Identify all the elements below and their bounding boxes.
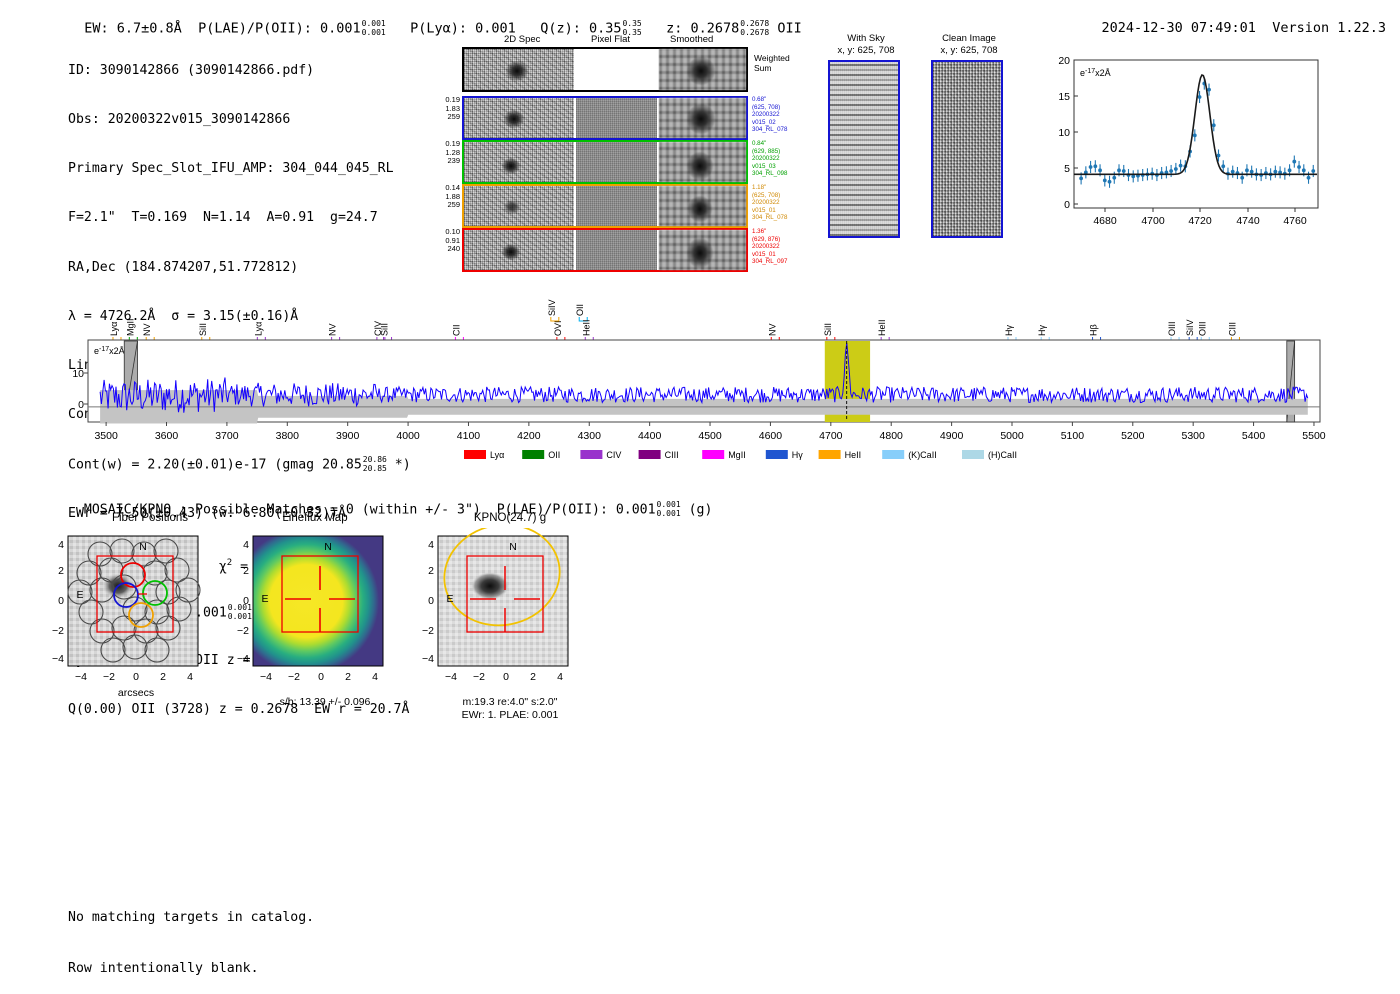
svg-text:Hβ: Hβ bbox=[1089, 324, 1099, 336]
svg-text:20: 20 bbox=[1058, 55, 1070, 67]
cutout-2dspec-fiber-2 bbox=[464, 142, 574, 182]
svg-text:4740: 4740 bbox=[1236, 215, 1260, 227]
spectral-line-markers: LyαMgIINVSiIILyαNVSiIICIVCIIOVISiIVOIIHe… bbox=[109, 299, 1239, 341]
line-zoom-flux-annotation: e-17x2Å bbox=[1080, 68, 1111, 79]
cutout-2dspec-weighted bbox=[464, 49, 574, 90]
svg-text:−4: −4 bbox=[260, 671, 272, 683]
svg-text:10: 10 bbox=[72, 368, 84, 380]
svg-text:10: 10 bbox=[1058, 127, 1070, 139]
version-label: Version 1.22.3 bbox=[1272, 20, 1386, 36]
info-obs: Obs: 20200322v015_3090142866 bbox=[68, 112, 411, 128]
info-id: ID: 3090142866 (3090142866.pdf) bbox=[68, 63, 411, 79]
svg-text:4700: 4700 bbox=[1141, 215, 1165, 227]
full-spectrum-chart: LyαMgIINVSiIILyαNVSiIICIVCIIOVISiIVOIIHe… bbox=[64, 272, 1336, 467]
svg-text:−2: −2 bbox=[422, 625, 434, 637]
fiber-2-meta: 0.84"(629, 885)20200322v015_03304_RL_098 bbox=[752, 140, 800, 178]
svg-text:Hγ: Hγ bbox=[1037, 325, 1047, 336]
svg-text:5500: 5500 bbox=[1302, 430, 1326, 442]
svg-text:CIII: CIII bbox=[1228, 322, 1238, 336]
lineflux-map-chart[interactable]: N E 42 0−2 −4 −4−2 02 4 bbox=[225, 528, 425, 703]
cutout-smoothed-fiber-3 bbox=[659, 186, 746, 226]
full-spec-flux-annotation: e-17x2Å bbox=[94, 346, 125, 357]
svg-text:CIV: CIV bbox=[373, 321, 383, 336]
panel-title-lineflux-map: Lineflux Map bbox=[225, 512, 405, 524]
svg-text:−2: −2 bbox=[103, 671, 115, 683]
cutout-pixelflat-fiber-1 bbox=[576, 98, 657, 138]
svg-text:NV: NV bbox=[328, 323, 338, 336]
svg-text:2: 2 bbox=[58, 565, 64, 577]
svg-text:−4: −4 bbox=[422, 653, 434, 665]
svg-text:4300: 4300 bbox=[578, 430, 602, 442]
kpno-caption-2: EWr: 1. PLAE: 0.001 bbox=[405, 709, 615, 722]
svg-text:0: 0 bbox=[1064, 199, 1070, 211]
svg-text:SiII: SiII bbox=[823, 323, 833, 336]
svg-text:4700: 4700 bbox=[819, 430, 843, 442]
line-zoom-x-axis: 4680 4700 4720 4740 4760 bbox=[1093, 208, 1307, 227]
svg-text:3800: 3800 bbox=[276, 430, 300, 442]
svg-text:4: 4 bbox=[557, 671, 563, 683]
compass-north-kpno: N bbox=[509, 541, 517, 553]
fiber-1-metrics: 0.191.83259 bbox=[436, 96, 460, 122]
svg-text:(K)CaII: (K)CaII bbox=[908, 450, 937, 460]
svg-text:3500: 3500 bbox=[94, 430, 118, 442]
svg-text:4800: 4800 bbox=[880, 430, 904, 442]
svg-text:−2: −2 bbox=[288, 671, 300, 683]
svg-text:−4: −4 bbox=[52, 653, 64, 665]
panel-title-kpno: KPNO(24.7) g bbox=[410, 512, 610, 524]
footer-note: No matching targets in catalog. Row inte… bbox=[68, 875, 314, 994]
full-spec-legend: LyαOIICIVCIIIMgIIHγHeII(K)CaII(H)CaII bbox=[464, 450, 1017, 460]
cutout-2dspec-fiber-1 bbox=[464, 98, 574, 138]
svg-text:4000: 4000 bbox=[396, 430, 420, 442]
svg-text:2: 2 bbox=[243, 565, 249, 577]
weighted-sum-label: Weighted Sum bbox=[754, 53, 790, 73]
cutout-pixelflat-fiber-4 bbox=[576, 230, 657, 270]
svg-text:4760: 4760 bbox=[1283, 215, 1307, 227]
svg-text:2: 2 bbox=[428, 565, 434, 577]
kpno-caption-1: m:19.3 re:4.0" s:2.0" bbox=[405, 696, 615, 709]
svg-text:MgII: MgII bbox=[728, 450, 746, 460]
with-sky-title: With Skyx, y: 625, 708 bbox=[816, 33, 916, 56]
fiber-3-metrics: 0.141.88259 bbox=[436, 184, 460, 210]
svg-text:SiIV: SiIV bbox=[547, 299, 557, 316]
svg-text:HeII: HeII bbox=[877, 319, 887, 336]
spec-montage: 2D Spec Pixel Flat Smoothed Weighted Sum… bbox=[438, 34, 768, 259]
header-timestamp-version: 2024-12-30 07:49:01 Version 1.22.3 bbox=[1085, 4, 1386, 36]
svg-text:4200: 4200 bbox=[517, 430, 541, 442]
svg-text:NV: NV bbox=[142, 323, 152, 336]
montage-col-title-smoothed: Smoothed bbox=[670, 34, 713, 45]
svg-text:Hγ: Hγ bbox=[1004, 325, 1014, 336]
svg-text:3700: 3700 bbox=[215, 430, 239, 442]
svg-text:2: 2 bbox=[345, 671, 351, 683]
svg-text:5200: 5200 bbox=[1121, 430, 1145, 442]
svg-text:0: 0 bbox=[78, 399, 84, 411]
info-primary-spec: Primary Spec_Slot_IFU_AMP: 304_044_045_R… bbox=[68, 161, 411, 177]
svg-text:MgII: MgII bbox=[125, 318, 135, 336]
svg-text:CIV: CIV bbox=[606, 450, 621, 460]
kpno-image-chart[interactable]: N E 42 0−2 −4 −4−2 02 4 bbox=[410, 528, 620, 703]
fiber-4-meta: 1.36"(629, 876)20200322v015_01304_RL_097 bbox=[752, 228, 800, 266]
cutout-pixelflat-fiber-3 bbox=[576, 186, 657, 226]
svg-text:0: 0 bbox=[428, 595, 434, 607]
svg-text:15: 15 bbox=[1058, 91, 1070, 103]
compass-east-fiber: E bbox=[76, 589, 83, 601]
svg-text:4100: 4100 bbox=[457, 430, 481, 442]
svg-text:HeII: HeII bbox=[845, 450, 862, 460]
svg-text:3600: 3600 bbox=[155, 430, 179, 442]
compass-north-lineflux: N bbox=[324, 541, 332, 553]
cutout-smoothed-fiber-4 bbox=[659, 230, 746, 270]
info-seeing: F=2.1" T=0.169 N=1.14 A=0.91 g=24.7 bbox=[68, 210, 411, 226]
svg-text:2: 2 bbox=[530, 671, 536, 683]
svg-text:−4: −4 bbox=[237, 653, 249, 665]
cutout-smoothed-weighted bbox=[659, 49, 746, 90]
svg-text:4: 4 bbox=[372, 671, 378, 683]
full-spec-y-axis: 10 0 bbox=[72, 368, 88, 411]
fiber-x-axis-label: arcsecs bbox=[118, 687, 154, 699]
compass-north-fiber: N bbox=[139, 541, 147, 553]
svg-text:5400: 5400 bbox=[1242, 430, 1266, 442]
cutout-2dspec-fiber-3 bbox=[464, 186, 574, 226]
svg-text:4: 4 bbox=[58, 539, 64, 551]
svg-text:4500: 4500 bbox=[698, 430, 722, 442]
svg-text:−2: −2 bbox=[473, 671, 485, 683]
clean-image bbox=[931, 60, 1003, 238]
svg-text:4400: 4400 bbox=[638, 430, 662, 442]
clean-image-title: Clean Imagex, y: 625, 708 bbox=[919, 33, 1019, 56]
svg-text:Lyα: Lyα bbox=[253, 322, 263, 336]
svg-text:4720: 4720 bbox=[1188, 215, 1212, 227]
lineflux-caption: s/b: 13.39 +/- 0.096 bbox=[225, 696, 425, 709]
footer-line-1: No matching targets in catalog. bbox=[68, 909, 314, 926]
footer-line-2: Row intentionally blank. bbox=[68, 960, 314, 977]
montage-col-title-2dspec: 2D Spec bbox=[504, 34, 540, 45]
svg-text:Lyα: Lyα bbox=[109, 322, 119, 336]
svg-text:2: 2 bbox=[160, 671, 166, 683]
svg-text:0: 0 bbox=[133, 671, 139, 683]
svg-text:−2: −2 bbox=[52, 625, 64, 637]
svg-text:OII: OII bbox=[575, 304, 585, 316]
svg-text:5000: 5000 bbox=[1000, 430, 1024, 442]
svg-text:Lyα: Lyα bbox=[490, 450, 504, 460]
svg-text:−4: −4 bbox=[75, 671, 87, 683]
svg-text:SiII: SiII bbox=[198, 323, 208, 336]
svg-text:OIII: OIII bbox=[1167, 321, 1177, 336]
fiber-2-metrics: 0.191.28239 bbox=[436, 140, 460, 166]
svg-text:4600: 4600 bbox=[759, 430, 783, 442]
svg-text:HeII: HeII bbox=[581, 319, 591, 336]
svg-text:5300: 5300 bbox=[1181, 430, 1205, 442]
cutout-pixelflat-weighted bbox=[576, 49, 657, 90]
svg-text:4: 4 bbox=[187, 671, 193, 683]
fiber-1-meta: 0.68"(625, 708)20200322v015_02304_RL_078 bbox=[752, 96, 800, 134]
svg-text:OIII: OIII bbox=[1197, 321, 1207, 336]
header-classification: OII bbox=[777, 21, 801, 37]
compass-east-lineflux: E bbox=[261, 593, 268, 605]
svg-text:0: 0 bbox=[58, 595, 64, 607]
svg-text:5100: 5100 bbox=[1061, 430, 1085, 442]
svg-text:(H)CaII: (H)CaII bbox=[988, 450, 1017, 460]
full-spec-x-axis: 3500360037003800390040004100420043004400… bbox=[94, 422, 1325, 442]
svg-text:SiIV: SiIV bbox=[1185, 319, 1195, 336]
svg-text:−4: −4 bbox=[445, 671, 457, 683]
panel-title-fiber-positions: Fiber Positions bbox=[60, 512, 240, 524]
svg-text:NV: NV bbox=[767, 323, 777, 336]
cutout-2dspec-fiber-4 bbox=[464, 230, 574, 270]
svg-text:4900: 4900 bbox=[940, 430, 964, 442]
with-sky-image bbox=[828, 60, 900, 238]
svg-text:Hγ: Hγ bbox=[792, 450, 803, 460]
cutout-smoothed-fiber-1 bbox=[659, 98, 746, 138]
fiber-3-meta: 1.18"(625, 708)20200322v015_01304_RL_078 bbox=[752, 184, 800, 222]
svg-text:OVI: OVI bbox=[553, 320, 563, 336]
svg-text:−2: −2 bbox=[237, 625, 249, 637]
mosaic-plae-fraction: 0.0010.001 bbox=[657, 501, 681, 518]
svg-text:5: 5 bbox=[1064, 163, 1070, 175]
compass-east-kpno: E bbox=[446, 593, 453, 605]
svg-text:OII: OII bbox=[548, 450, 560, 460]
svg-text:CIII: CIII bbox=[665, 450, 679, 460]
svg-text:0: 0 bbox=[318, 671, 324, 683]
emission-line-zoom-chart: e-17x2Å 20 15 10 5 0 4680 4700 4720 4740… bbox=[1030, 52, 1330, 242]
svg-text:4: 4 bbox=[243, 539, 249, 551]
cutout-smoothed-fiber-2 bbox=[659, 142, 746, 182]
svg-text:4: 4 bbox=[428, 539, 434, 551]
fiber-4-metrics: 0.100.91240 bbox=[436, 228, 460, 254]
timestamp: 2024-12-30 07:49:01 bbox=[1102, 20, 1256, 36]
cutout-pixelflat-fiber-2 bbox=[576, 142, 657, 182]
svg-text:0: 0 bbox=[243, 595, 249, 607]
svg-text:4680: 4680 bbox=[1093, 215, 1117, 227]
svg-text:3900: 3900 bbox=[336, 430, 360, 442]
svg-text:0: 0 bbox=[503, 671, 509, 683]
fiber-positions-chart[interactable]: N E 42 0−2 −4 −4−2 02 4 arcsecs bbox=[40, 528, 240, 703]
svg-text:CII: CII bbox=[451, 324, 461, 336]
montage-col-title-pixelflat: Pixel Flat bbox=[591, 34, 630, 45]
